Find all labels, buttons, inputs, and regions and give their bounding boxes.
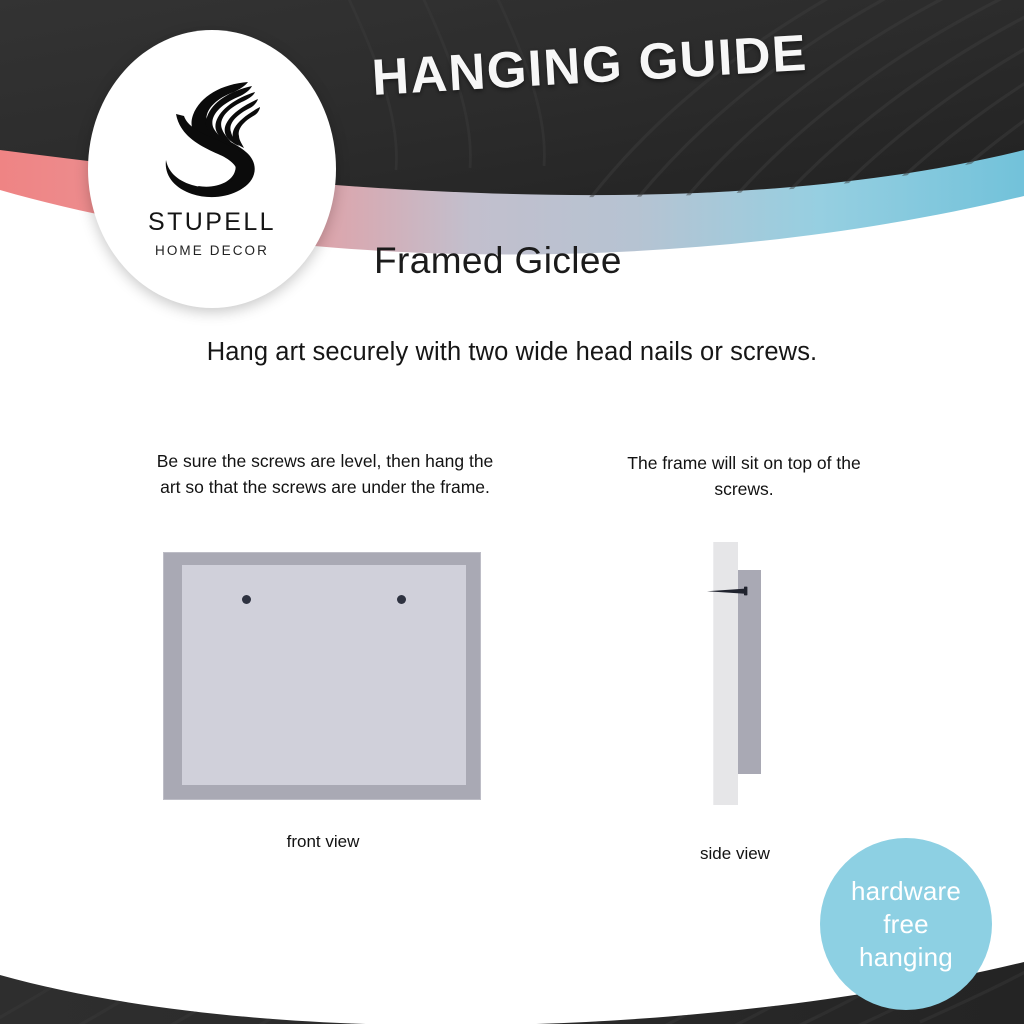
product-type-label: Framed Giclee <box>374 240 622 282</box>
brand-name: STUPELL <box>148 208 276 237</box>
front-view-frame-illustration <box>163 552 481 800</box>
badge-line-2: free <box>883 908 929 941</box>
badge-line-1: hardware <box>851 875 961 908</box>
hanging-guide-poster: HANGING GUIDE STUPELL HOME DECOR Framed … <box>0 0 1024 1024</box>
screw-dot-right <box>397 595 406 604</box>
stupell-swirl-logo-icon <box>156 72 268 200</box>
nail-icon <box>707 586 755 596</box>
side-view-caption: The frame will sit on top of the screws. <box>598 450 890 502</box>
brand-tagline: HOME DECOR <box>155 243 269 258</box>
brand-logo-badge: STUPELL HOME DECOR <box>88 30 336 308</box>
side-view-illustration <box>705 542 785 810</box>
screw-dot-left <box>242 595 251 604</box>
side-view-frame-edge <box>738 570 761 774</box>
badge-line-3: hanging <box>859 941 953 974</box>
side-view-label: side view <box>640 844 830 864</box>
hardware-free-hanging-badge: hardware free hanging <box>820 838 992 1010</box>
main-instruction-text: Hang art securely with two wide head nai… <box>0 338 1024 367</box>
side-view-wall <box>713 542 738 805</box>
front-view-art-mat <box>182 565 466 785</box>
front-view-label: front view <box>155 832 491 852</box>
diagram-area: Be sure the screws are level, then hang … <box>0 440 1024 880</box>
front-view-caption: Be sure the screws are level, then hang … <box>155 448 495 500</box>
page-title: HANGING GUIDE <box>370 23 809 107</box>
